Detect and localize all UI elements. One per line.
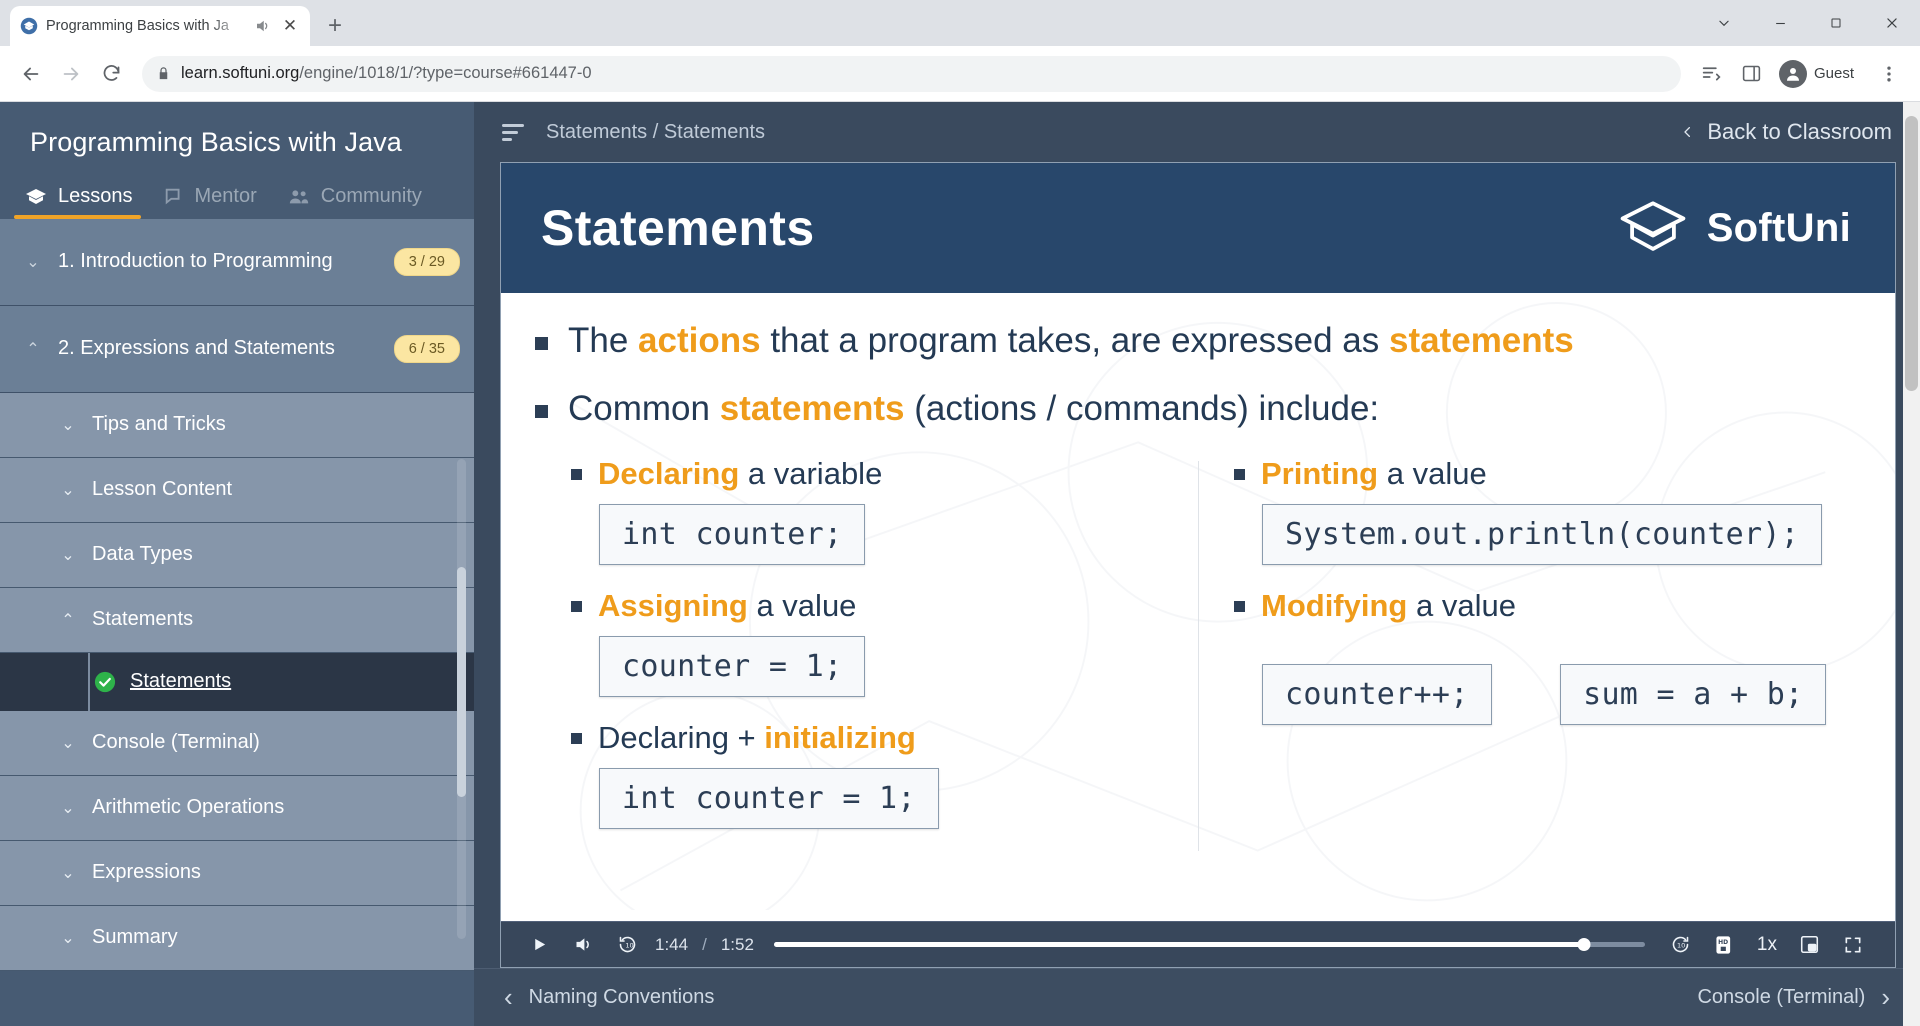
softuni-favicon-icon xyxy=(20,17,38,35)
slide-body: The actions that a program takes, are ex… xyxy=(501,293,1895,921)
reload-button[interactable] xyxy=(94,57,128,91)
svg-text:10: 10 xyxy=(1677,942,1685,950)
brand-block: SoftUni xyxy=(1615,197,1851,259)
page-scrollbar[interactable] xyxy=(1903,102,1920,1026)
forward-button[interactable] xyxy=(54,57,88,91)
browser-tab[interactable]: Programming Basics with Ja ✕ xyxy=(10,6,310,46)
current-time: 1:44 xyxy=(649,935,694,955)
time-separator: / xyxy=(694,935,715,955)
picture-in-picture-icon[interactable] xyxy=(1787,922,1831,968)
sidebar-scrollbar[interactable] xyxy=(457,459,466,939)
profile-name: Guest xyxy=(1814,65,1854,82)
code-box-assign: counter = 1; xyxy=(599,636,865,697)
tab-lessons[interactable]: Lessons xyxy=(24,185,133,219)
topic-label: Tips and Tricks xyxy=(92,413,226,436)
progress-badge: 3 / 29 xyxy=(394,248,460,276)
chevron-up-icon: ⌃ xyxy=(58,610,78,630)
chapter-label: 2. Expressions and Statements xyxy=(58,337,380,361)
svg-text:10: 10 xyxy=(625,942,633,950)
chevron-down-icon: ⌄ xyxy=(58,480,78,500)
hd-icon[interactable]: HD xyxy=(1703,922,1747,968)
url-domain: learn.softuni.org xyxy=(181,64,299,82)
video-player-controls: 10 1:44 / 1:52 10 xyxy=(501,921,1895,967)
reading-list-icon[interactable] xyxy=(1695,57,1729,91)
label-modifying-rest: a value xyxy=(1407,588,1516,623)
lesson-tree: ⌄ 1. Introduction to Programming 3 / 29 … xyxy=(0,219,474,1026)
bullet-text: Common statements (actions / commands) i… xyxy=(568,387,1379,431)
tab-lessons-label: Lessons xyxy=(58,185,133,208)
progress-slider[interactable] xyxy=(774,934,1645,956)
close-icon[interactable]: ✕ xyxy=(280,16,300,36)
tab-community-label: Community xyxy=(321,185,422,208)
back-to-classroom-button[interactable]: Back to Classroom xyxy=(1680,119,1892,145)
window-close-button[interactable] xyxy=(1864,0,1920,46)
chevron-left-icon: ‹ xyxy=(504,982,513,1013)
topic-item-data-types[interactable]: ⌄ Data Types xyxy=(0,523,474,588)
chat-bubble-icon xyxy=(163,186,185,208)
slide-header: Statements SoftUni xyxy=(501,163,1895,293)
tab-strip: Programming Basics with Ja ✕ + xyxy=(0,0,1920,46)
back-to-classroom-label: Back to Classroom xyxy=(1707,119,1892,145)
lesson-label: Statements xyxy=(130,670,231,693)
bullet-text: The actions that a program takes, are ex… xyxy=(568,319,1574,363)
breadcrumb: Statements / Statements xyxy=(546,121,1662,144)
slide-frame: Statements SoftUni xyxy=(500,162,1896,968)
label-assigning: Assigning xyxy=(598,588,748,623)
chevron-up-icon: ⌃ xyxy=(22,339,44,359)
progress-fill xyxy=(774,942,1584,947)
code-text: counter = 1; xyxy=(622,649,842,684)
bullet-square-icon xyxy=(535,405,548,418)
minimize-button[interactable] xyxy=(1752,0,1808,46)
bullet-square-icon xyxy=(571,469,582,480)
forward-10-icon[interactable]: 10 xyxy=(1659,922,1703,968)
new-tab-button[interactable]: + xyxy=(318,9,352,43)
topic-item-statements[interactable]: ⌃ Statements xyxy=(0,588,474,653)
slide-viewer: Statements SoftUni xyxy=(474,162,1920,968)
hamburger-icon[interactable] xyxy=(502,121,528,143)
highlight-statements: statements xyxy=(720,389,905,428)
sub-bullet-modifying: Modifying a value xyxy=(1234,587,1843,624)
slide-column-left: Declaring a variable int counter; Assign… xyxy=(535,455,1198,852)
topic-label: Console (Terminal) xyxy=(92,731,260,754)
chevron-down-icon: ⌄ xyxy=(58,733,78,753)
topic-item-lesson-content[interactable]: ⌄ Lesson Content xyxy=(0,458,474,523)
main-content: Statements / Statements Back to Classroo… xyxy=(474,102,1920,1026)
code-box-modify: counter++; xyxy=(1262,664,1492,725)
label-assigning-rest: a value xyxy=(748,588,857,623)
chevron-left-icon xyxy=(1680,120,1695,144)
graduation-cap-icon xyxy=(24,185,48,209)
topic-label: Expressions xyxy=(92,861,201,884)
topic-item-expressions[interactable]: ⌄ Expressions xyxy=(0,841,474,906)
slide-title: Statements xyxy=(541,199,815,257)
topic-label: Lesson Content xyxy=(92,478,232,501)
tab-title: Programming Basics with Ja xyxy=(46,18,246,34)
speaker-icon[interactable] xyxy=(254,17,272,35)
tab-mentor-label: Mentor xyxy=(195,185,257,208)
volume-icon[interactable] xyxy=(561,922,605,968)
label-printing: Printing xyxy=(1261,456,1378,491)
chevron-down-icon: ⌄ xyxy=(58,863,78,883)
browser-toolbar: learn.softuni.org/engine/1018/1/?type=co… xyxy=(0,46,1920,102)
softuni-logo-icon xyxy=(1615,197,1691,259)
course-title: Programming Basics with Java xyxy=(0,102,474,159)
label-declaring-rest: a variable xyxy=(739,456,882,491)
tab-mentor[interactable]: Mentor xyxy=(163,185,257,219)
topic-item-arithmetic-operations[interactable]: ⌄ Arithmetic Operations xyxy=(0,776,474,841)
chevron-down-icon: ⌄ xyxy=(58,798,78,818)
sub-bullet-declaring: Declaring a variable xyxy=(571,455,1180,492)
previous-lesson-label: Naming Conventions xyxy=(529,986,715,1009)
sidebar-scrollbar-thumb[interactable] xyxy=(457,567,466,797)
playback-speed-button[interactable]: 1x xyxy=(1747,934,1787,956)
code-text: counter++; xyxy=(1285,677,1469,712)
previous-lesson-button[interactable]: ‹ Naming Conventions xyxy=(504,982,714,1013)
replay-10-icon[interactable]: 10 xyxy=(605,922,649,968)
next-lesson-button[interactable]: Console (Terminal) › xyxy=(1697,982,1890,1013)
sub-bullet-assigning: Assigning a value xyxy=(571,587,1180,624)
address-bar[interactable]: learn.softuni.org/engine/1018/1/?type=co… xyxy=(142,56,1681,92)
chevron-down-icon: ⌄ xyxy=(22,252,44,272)
address-bar-url: learn.softuni.org/engine/1018/1/?type=co… xyxy=(181,64,592,83)
progress-knob[interactable] xyxy=(1577,938,1590,951)
tab-community[interactable]: Community xyxy=(287,185,422,219)
profile-button[interactable]: Guest xyxy=(1775,57,1866,91)
people-icon xyxy=(287,186,311,208)
slide-column-right: Printing a value System.out.println(coun… xyxy=(1198,455,1861,852)
duration: 1:52 xyxy=(715,935,760,955)
window-controls xyxy=(1696,0,1920,46)
code-text: System.out.println(counter); xyxy=(1285,517,1799,552)
check-circle-icon xyxy=(94,671,116,693)
bullet-square-icon xyxy=(1234,601,1245,612)
bullet-square-icon xyxy=(535,337,548,350)
chevron-down-icon: ⌄ xyxy=(58,545,78,565)
label-modifying: Modifying xyxy=(1261,588,1407,623)
code-box-print: System.out.println(counter); xyxy=(1262,504,1822,565)
topic-label: Arithmetic Operations xyxy=(92,796,284,819)
highlight-actions: actions xyxy=(638,321,761,360)
sub-bullet-declaring-initializing: Declaring + initializing xyxy=(571,719,1180,756)
lock-icon xyxy=(156,66,171,81)
svg-text:HD: HD xyxy=(1718,939,1728,946)
chevron-down-icon: ⌄ xyxy=(58,415,78,435)
slide-bullet-2: Common statements (actions / commands) i… xyxy=(535,387,1861,431)
url-path: /engine/1018/1/?type=course#661447-0 xyxy=(299,64,591,82)
highlight-statements: statements xyxy=(1389,321,1574,360)
bullet-square-icon xyxy=(571,601,582,612)
bullet-square-icon xyxy=(571,733,582,744)
fullscreen-icon[interactable] xyxy=(1831,922,1875,968)
topic-label: Data Types xyxy=(92,543,193,566)
chapter-item-1[interactable]: ⌄ 1. Introduction to Programming 3 / 29 xyxy=(0,219,474,306)
code-box-sum: sum = a + b; xyxy=(1560,664,1826,725)
content-topbar: Statements / Statements Back to Classroo… xyxy=(474,102,1920,162)
maximize-button[interactable] xyxy=(1808,0,1864,46)
next-lesson-label: Console (Terminal) xyxy=(1697,986,1865,1009)
code-text: int counter; xyxy=(622,517,842,552)
page-scrollbar-thumb[interactable] xyxy=(1905,116,1918,391)
chevron-down-icon[interactable] xyxy=(1696,0,1752,46)
topic-item-summary[interactable]: ⌄ Summary xyxy=(0,906,474,971)
browser-window: Programming Basics with Ja ✕ + xyxy=(0,0,1920,1026)
progress-badge: 6 / 35 xyxy=(394,335,460,363)
avatar xyxy=(1779,60,1807,88)
bullet-square-icon xyxy=(1234,469,1245,480)
back-button[interactable] xyxy=(14,57,48,91)
sidebar-tabs: Lessons Mentor Community xyxy=(0,185,474,219)
code-box-declare-init: int counter = 1; xyxy=(599,768,939,829)
slide-bullet-1: The actions that a program takes, are ex… xyxy=(535,319,1861,363)
play-icon[interactable] xyxy=(517,922,561,968)
lesson-navigation: ‹ Naming Conventions Console (Terminal) … xyxy=(474,968,1920,1026)
topic-label: Summary xyxy=(92,926,178,949)
label-initializing: initializing xyxy=(764,720,916,755)
browser-menu-icon[interactable] xyxy=(1872,57,1906,91)
sub-bullet-printing: Printing a value xyxy=(1234,455,1843,492)
slide-columns: Declaring a variable int counter; Assign… xyxy=(535,455,1861,852)
brand-name: SoftUni xyxy=(1707,206,1851,251)
topic-label: Statements xyxy=(92,608,193,631)
topic-item-console-terminal[interactable]: ⌄ Console (Terminal) xyxy=(0,711,474,776)
label-printing-rest: a value xyxy=(1378,456,1487,491)
chapter-item-2[interactable]: ⌃ 2. Expressions and Statements 6 / 35 xyxy=(0,306,474,393)
course-sidebar: Programming Basics with Java Lessons Men… xyxy=(0,102,474,1026)
chapter-label: 1. Introduction to Programming xyxy=(58,250,380,274)
code-box-declare: int counter; xyxy=(599,504,865,565)
topic-item-tips-and-tricks[interactable]: ⌄ Tips and Tricks xyxy=(0,393,474,458)
chevron-right-icon: › xyxy=(1881,982,1890,1013)
code-text: int counter = 1; xyxy=(622,781,916,816)
chevron-down-icon: ⌄ xyxy=(58,928,78,948)
lesson-tree-scroll[interactable]: ⌄ 1. Introduction to Programming 3 / 29 … xyxy=(0,219,474,1026)
page-content: Programming Basics with Java Lessons Men… xyxy=(0,102,1920,1026)
lesson-item-statements-active[interactable]: Statements xyxy=(0,653,474,711)
side-panel-icon[interactable] xyxy=(1735,57,1769,91)
code-text: sum = a + b; xyxy=(1583,677,1803,712)
label-declaring-plus: Declaring + xyxy=(598,720,764,755)
label-declaring: Declaring xyxy=(598,456,739,491)
